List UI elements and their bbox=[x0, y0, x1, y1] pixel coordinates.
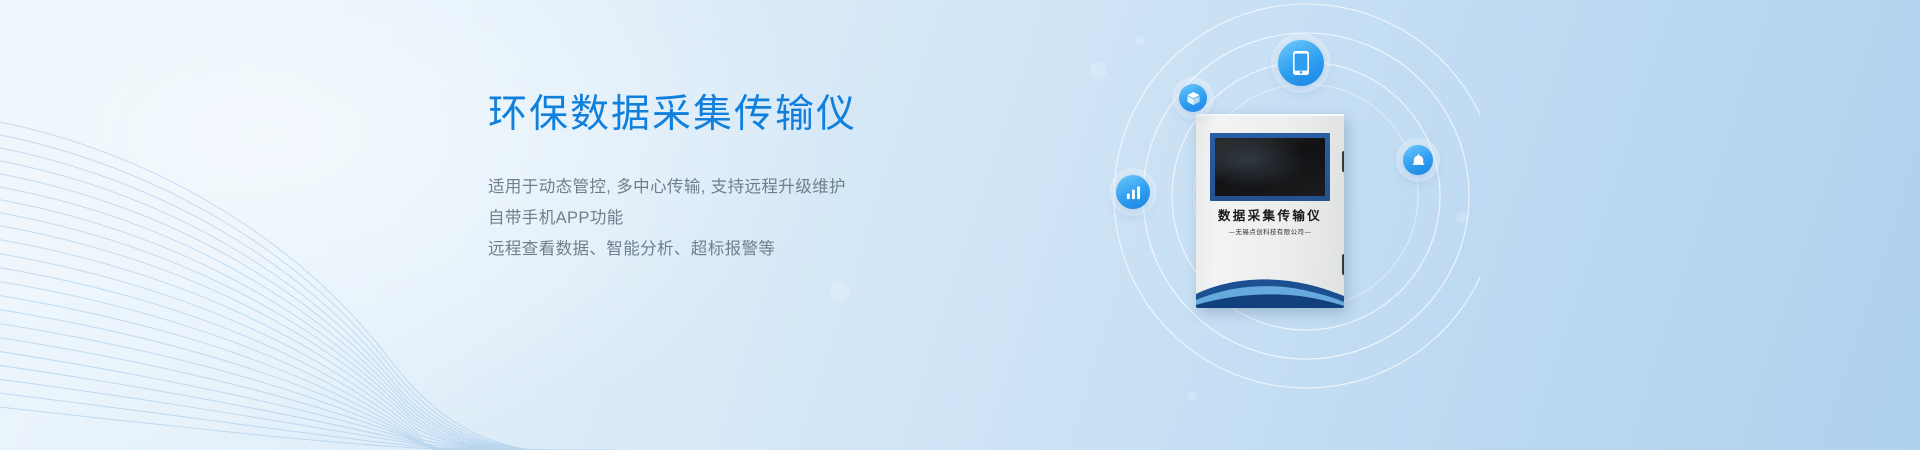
device-bottom-wave-graphic bbox=[1196, 264, 1344, 308]
alarm-horn-icon[interactable] bbox=[1403, 145, 1433, 175]
banner-text-block: 环保数据采集传输仪 适用于动态管控, 多中心传输, 支持远程升级维护 自带手机A… bbox=[488, 92, 1048, 265]
subtitle-line-3: 远程查看数据、智能分析、超标报警等 bbox=[488, 234, 1048, 265]
device-manufacturer: —无锡点创科技有限公司— bbox=[1196, 227, 1344, 236]
device-display-screen bbox=[1215, 138, 1325, 196]
device-top-edge bbox=[1196, 114, 1344, 116]
device-hinge-bottom bbox=[1342, 254, 1344, 275]
device-screen-bezel bbox=[1210, 133, 1330, 201]
bar-chart-icon[interactable] bbox=[1116, 175, 1150, 209]
product-scene: 数据采集传输仪 —无锡点创科技有限公司— bbox=[1060, 0, 1480, 450]
banner-subtitle-list: 适用于动态管控, 多中心传输, 支持远程升级维护 自带手机APP功能 远程查看数… bbox=[488, 172, 1048, 265]
smartphone-icon[interactable] bbox=[1278, 40, 1324, 86]
cube-box-icon[interactable] bbox=[1179, 84, 1207, 112]
device-model-name: 数据采集传输仪 bbox=[1196, 208, 1344, 224]
page-title: 环保数据采集传输仪 bbox=[488, 92, 1048, 138]
device-cabinet: 数据采集传输仪 —无锡点创科技有限公司— bbox=[1196, 114, 1344, 308]
bokeh-dot bbox=[829, 280, 850, 301]
subtitle-line-1: 适用于动态管控, 多中心传输, 支持远程升级维护 bbox=[488, 172, 1048, 203]
subtitle-line-2: 自带手机APP功能 bbox=[488, 203, 1048, 234]
device-hinge-top bbox=[1342, 151, 1344, 172]
product-hero-banner: 环保数据采集传输仪 适用于动态管控, 多中心传输, 支持远程升级维护 自带手机A… bbox=[0, 0, 1920, 450]
device-nameplate: 数据采集传输仪 —无锡点创科技有限公司— bbox=[1196, 208, 1344, 236]
